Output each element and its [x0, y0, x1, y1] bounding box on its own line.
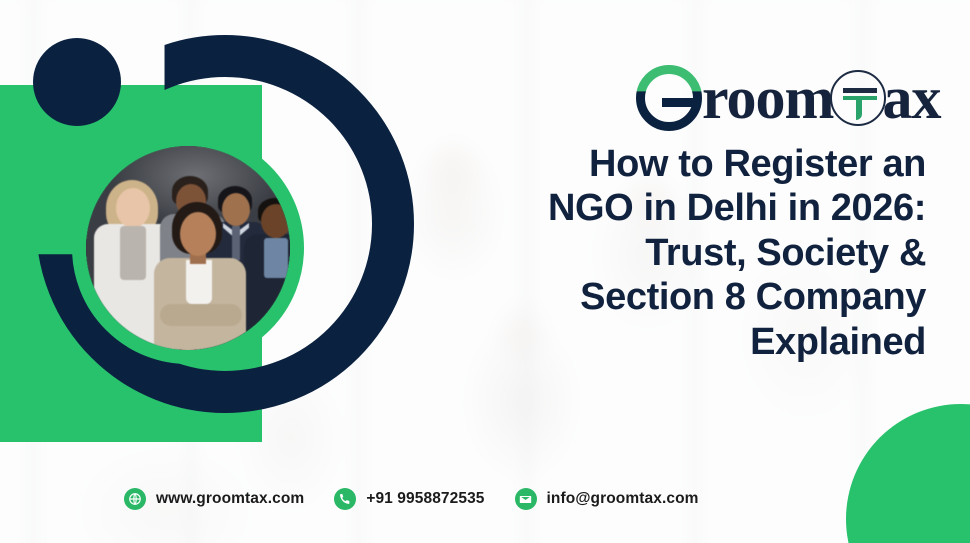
phone-label: +91 9958872535 [366, 490, 484, 508]
logo-word-tax: ax [883, 68, 941, 128]
page-title: How to Register an NGO in Delhi in 2026:… [460, 142, 926, 364]
logo-tau-icon [830, 70, 886, 126]
headline-line-4: Section 8 Company [460, 275, 926, 319]
globe-icon [124, 488, 146, 510]
contact-website[interactable]: www.groomtax.com [124, 488, 304, 510]
headline-line-5: Explained [460, 320, 926, 364]
headline-line-1: How to Register an [460, 142, 926, 186]
envelope-icon [515, 488, 537, 510]
phone-icon [334, 488, 356, 510]
contact-phone[interactable]: +91 9958872535 [334, 488, 484, 510]
navy-dot-shape [33, 38, 121, 126]
logo-word-groom: room [702, 68, 834, 128]
groomtax-logo[interactable]: room ax [632, 56, 941, 140]
email-label: info@groomtax.com [547, 490, 699, 508]
headline-line-3: Trust, Society & [460, 231, 926, 275]
contact-bar: www.groomtax.com +91 9958872535 info@gro… [124, 484, 699, 514]
logo-g-icon [632, 61, 706, 135]
marketing-banner: room ax How to Register an NGO in Delhi … [0, 0, 970, 543]
team-photo [86, 146, 290, 350]
contact-email[interactable]: info@groomtax.com [515, 488, 699, 510]
headline-line-2: NGO in Delhi in 2026: [460, 186, 926, 230]
website-label: www.groomtax.com [156, 490, 304, 508]
